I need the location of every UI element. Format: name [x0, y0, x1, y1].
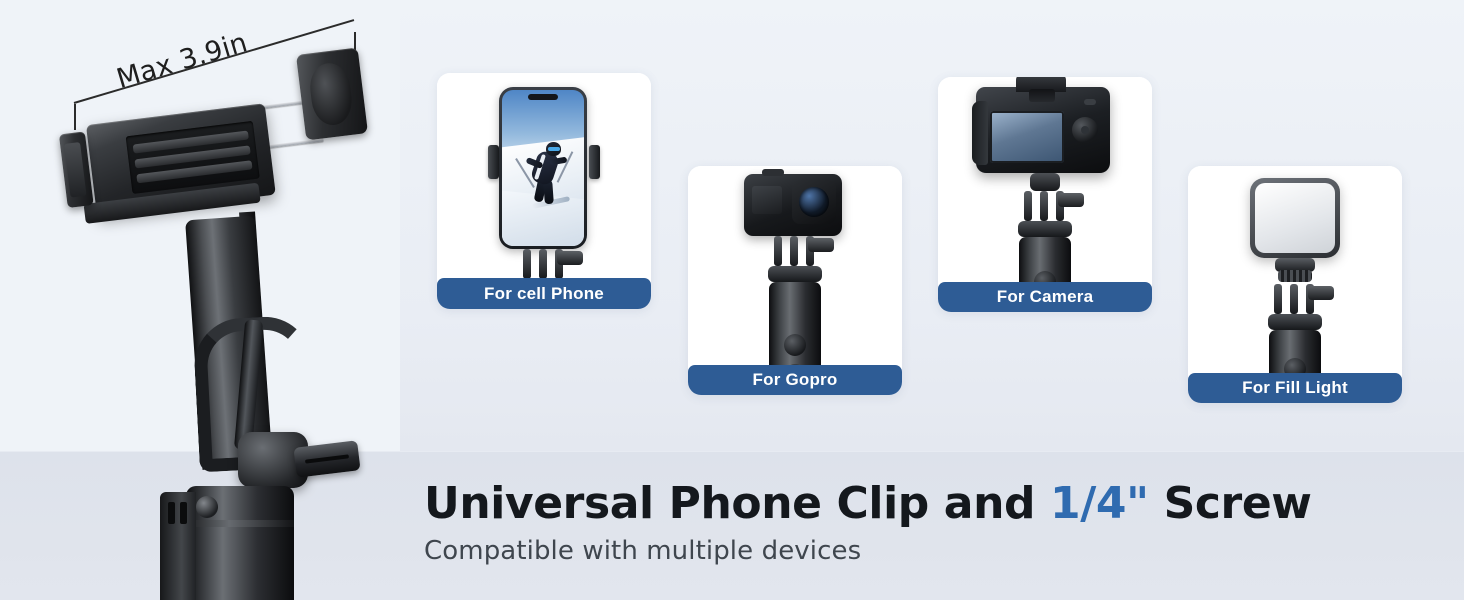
clip-slot: [126, 121, 260, 194]
phone-notch: [528, 94, 558, 100]
camera-grip: [972, 101, 988, 165]
camera-viewfinder: [1029, 89, 1055, 102]
camera-top-button: [1084, 99, 1096, 105]
card-label-camera: For Camera: [938, 282, 1152, 312]
device-card-camera[interactable]: For Camera: [938, 77, 1152, 312]
clip-grip-left: [488, 145, 499, 179]
card-scene: [437, 73, 651, 309]
mount-fork: [764, 236, 826, 266]
camera-lcd-screen: [990, 111, 1064, 163]
mount-prong: [539, 249, 547, 279]
clip-jaw-right: [296, 48, 368, 141]
headline-accent: 1/4": [1050, 478, 1149, 529]
mount-prong: [774, 236, 782, 266]
stick-barrel-vent: [168, 502, 175, 524]
action-camera-screen: [752, 186, 782, 214]
mount-hub: [1268, 314, 1322, 330]
mount-prong: [1274, 284, 1282, 314]
headline: Universal Phone Clip and 1/4" Screw: [424, 478, 1324, 529]
mount-thumb-knob: [1308, 286, 1334, 300]
headline-part-1: Universal Phone Clip and: [424, 478, 1050, 529]
subtitle: Compatible with multiple devices: [424, 536, 1324, 566]
action-camera-top-button: [762, 169, 784, 176]
mount-hub: [768, 266, 822, 282]
hero-product-image: Max 3.9in: [0, 0, 420, 600]
card-scene: [938, 77, 1152, 312]
card-label-gopro: For Gopro: [688, 365, 902, 395]
led-fill-light: [1250, 178, 1340, 258]
mount-prong: [790, 236, 798, 266]
mount-hub: [1018, 221, 1072, 237]
device-card-gopro[interactable]: For Gopro: [688, 166, 902, 395]
card-label-fill-light: For Fill Light: [1188, 373, 1402, 403]
clip-jaw-lip: [64, 142, 86, 198]
mount-prong: [523, 249, 531, 279]
mount-prong: [1040, 191, 1048, 221]
skier-goggles: [548, 147, 560, 151]
mount-prong: [1024, 191, 1032, 221]
mount-screw-post: [1030, 173, 1060, 191]
light-gear-adjuster: [1278, 270, 1312, 282]
mount-fork: [1264, 284, 1326, 314]
mount-thumb-knob: [1058, 193, 1084, 207]
mount-thumb-knob: [557, 251, 583, 265]
action-camera-lens-housing: [792, 180, 836, 224]
device-card-cell-phone[interactable]: For cell Phone: [437, 73, 651, 309]
skier-figure: [524, 136, 570, 210]
stick-barrel-tab: [160, 492, 196, 600]
locking-screw: [293, 440, 360, 478]
promo-banner: Max 3.9in: [0, 0, 1464, 600]
card-scene: [1188, 166, 1402, 403]
led-panel: [1255, 183, 1335, 253]
stick-barrel-vent: [180, 502, 187, 524]
clip-jaw-lip: [307, 61, 354, 127]
mount-thumb-knob: [808, 238, 834, 252]
action-camera: [744, 174, 842, 236]
headline-part-2: Screw: [1149, 478, 1312, 529]
device-card-fill-light[interactable]: For Fill Light: [1188, 166, 1402, 403]
mount-prong: [1290, 284, 1298, 314]
clip-grip-right: [589, 145, 600, 179]
phone-screen: [502, 90, 584, 246]
stick-barrel-ring: [186, 520, 294, 527]
action-camera-lens: [799, 187, 829, 217]
stick-pivot-screw: [196, 496, 218, 518]
card-label-cell-phone: For cell Phone: [437, 278, 651, 309]
mount-fork: [513, 249, 575, 279]
card-scene: [688, 166, 902, 395]
mount-fork: [1014, 191, 1076, 221]
dslr-camera: [976, 87, 1110, 173]
camera-set-button: [1081, 126, 1089, 134]
shutter-button: [784, 334, 806, 356]
screw-notch: [305, 454, 349, 463]
smartphone: [499, 87, 587, 249]
